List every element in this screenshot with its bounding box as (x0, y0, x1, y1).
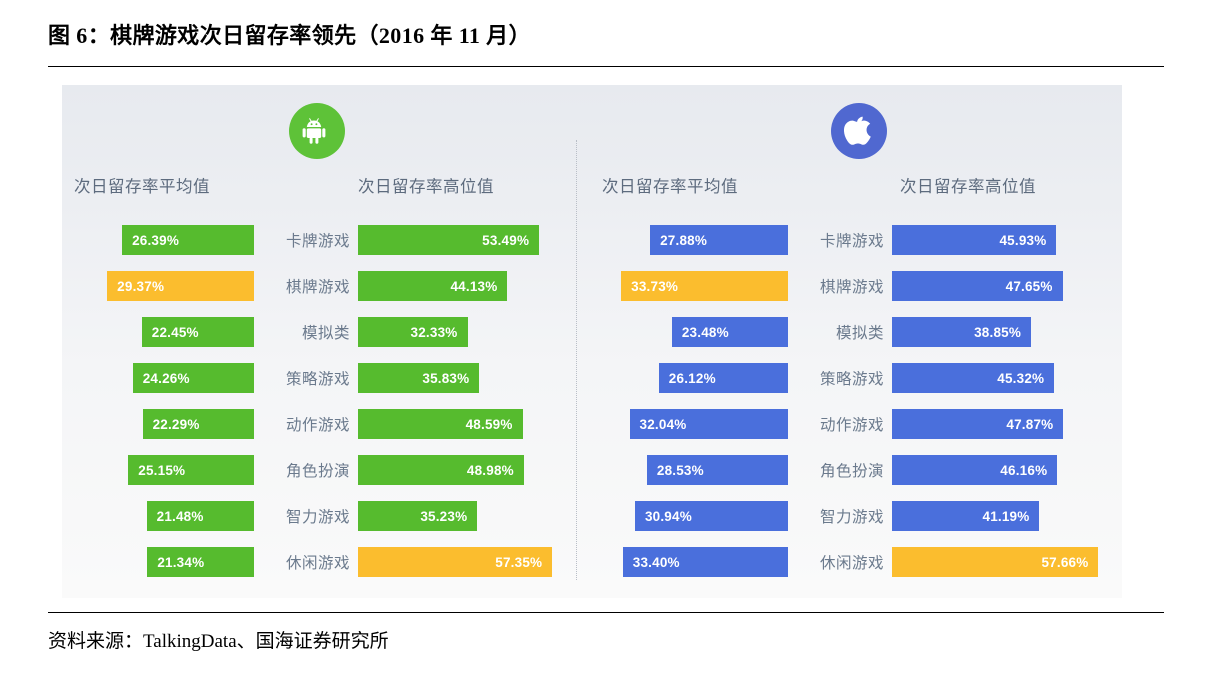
category-label: 卡牌游戏 (820, 229, 884, 251)
android-high-value: 35.83% (422, 371, 469, 386)
android-average-column-header: 次日留存率平均值 (74, 173, 210, 197)
ios-high-value: 57.66% (1041, 555, 1088, 570)
category-label: 棋牌游戏 (286, 275, 350, 297)
category-label: 休闲游戏 (286, 551, 350, 573)
chart-row: 26.39%卡牌游戏53.49%27.88%卡牌游戏45.93% (62, 217, 1122, 263)
category-label-zone: 棋牌游戏 (792, 271, 884, 301)
ios-average-bar[interactable]: 33.40% (623, 547, 788, 577)
ios-average-bar-zone: 26.12% (600, 363, 788, 393)
category-label-zone: 智力游戏 (792, 501, 884, 531)
android-high-value: 53.49% (482, 233, 529, 248)
ios-average-bar-zone: 23.48% (600, 317, 788, 347)
android-average-value: 29.37% (117, 279, 164, 294)
category-label-zone: 休闲游戏 (792, 547, 884, 577)
chart-row: 29.37%棋牌游戏44.13%33.73%棋牌游戏47.65% (62, 263, 1122, 309)
ios-high-value: 46.16% (1000, 463, 1047, 478)
android-row-half: 21.34%休闲游戏57.35% (62, 539, 576, 585)
android-average-value: 21.34% (157, 555, 204, 570)
category-label-zone: 模拟类 (792, 317, 884, 347)
source-divider-rule (48, 612, 1164, 613)
ios-average-bar[interactable]: 26.12% (659, 363, 788, 393)
chart-row: 21.34%休闲游戏57.35%33.40%休闲游戏57.66% (62, 539, 1122, 585)
ios-average-value: 27.88% (660, 233, 707, 248)
category-label-zone: 动作游戏 (258, 409, 350, 439)
ios-high-value: 45.32% (997, 371, 1044, 386)
android-average-bar-zone: 25.15% (74, 455, 254, 485)
chart-panel: 次日留存率平均值 次日留存率高位值 次日留存率平均值 次日留存率高位值 26.3… (62, 85, 1122, 598)
android-average-value: 22.45% (152, 325, 199, 340)
ios-row-half: 30.94%智力游戏41.19% (590, 493, 1122, 539)
chart-panel-inner: 次日留存率平均值 次日留存率高位值 次日留存率平均值 次日留存率高位值 26.3… (62, 85, 1122, 598)
android-average-bar[interactable]: 21.48% (147, 501, 254, 531)
android-high-bar[interactable]: 48.59% (358, 409, 523, 439)
android-average-bar[interactable]: 26.39% (122, 225, 254, 255)
ios-high-bar-zone: 47.87% (892, 409, 1114, 439)
android-row-half: 21.48%智力游戏35.23% (62, 493, 576, 539)
ios-high-bar-zone: 38.85% (892, 317, 1114, 347)
ios-high-value: 47.65% (1006, 279, 1053, 294)
category-label-zone: 卡牌游戏 (258, 225, 350, 255)
android-high-bar[interactable]: 48.98% (358, 455, 524, 485)
android-high-value: 44.13% (450, 279, 497, 294)
android-high-column-header: 次日留存率高位值 (358, 173, 494, 197)
android-average-value: 26.39% (132, 233, 179, 248)
chart-row: 21.48%智力游戏35.23%30.94%智力游戏41.19% (62, 493, 1122, 539)
ios-average-bar-zone: 28.53% (600, 455, 788, 485)
ios-high-bar[interactable]: 47.87% (892, 409, 1063, 439)
category-label-zone: 策略游戏 (792, 363, 884, 393)
category-label-zone: 动作游戏 (792, 409, 884, 439)
category-label: 智力游戏 (286, 505, 350, 527)
android-average-bar[interactable]: 25.15% (128, 455, 254, 485)
android-high-bar-zone: 32.33% (358, 317, 568, 347)
android-average-bar[interactable]: 22.29% (143, 409, 254, 439)
category-label: 模拟类 (836, 321, 884, 343)
android-high-bar-zone: 35.23% (358, 501, 568, 531)
category-label: 动作游戏 (820, 413, 884, 435)
category-label-zone: 角色扮演 (258, 455, 350, 485)
android-average-value: 21.48% (157, 509, 204, 524)
ios-high-column-header: 次日留存率高位值 (900, 173, 1036, 197)
android-row-half: 22.45%模拟类32.33% (62, 309, 576, 355)
ios-average-bar[interactable]: 23.48% (672, 317, 788, 347)
ios-average-value: 23.48% (682, 325, 729, 340)
chart-row: 24.26%策略游戏35.83%26.12%策略游戏45.32% (62, 355, 1122, 401)
android-high-bar-zone: 57.35% (358, 547, 568, 577)
android-row-half: 29.37%棋牌游戏44.13% (62, 263, 576, 309)
ios-high-bar[interactable]: 38.85% (892, 317, 1031, 347)
android-average-bar-zone: 21.48% (74, 501, 254, 531)
chart-rows: 26.39%卡牌游戏53.49%27.88%卡牌游戏45.93%29.37%棋牌… (62, 217, 1122, 585)
ios-high-bar-zone: 45.32% (892, 363, 1114, 393)
category-label-zone: 休闲游戏 (258, 547, 350, 577)
ios-average-value: 30.94% (645, 509, 692, 524)
android-average-bar[interactable]: 22.45% (142, 317, 254, 347)
ios-high-bar-zone: 57.66% (892, 547, 1114, 577)
chart-row: 22.45%模拟类32.33%23.48%模拟类38.85% (62, 309, 1122, 355)
android-high-bar-zone: 48.59% (358, 409, 568, 439)
android-high-bar-zone: 35.83% (358, 363, 568, 393)
page-title: 图 6：棋牌游戏次日留存率领先（2016 年 11 月） (48, 18, 1164, 50)
android-average-bar[interactable]: 24.26% (133, 363, 254, 393)
category-label-zone: 棋牌游戏 (258, 271, 350, 301)
android-row-half: 24.26%策略游戏35.83% (62, 355, 576, 401)
category-label-zone: 模拟类 (258, 317, 350, 347)
ios-high-bar[interactable]: 46.16% (892, 455, 1057, 485)
ios-high-value: 47.87% (1006, 417, 1053, 432)
ios-high-bar-zone: 47.65% (892, 271, 1114, 301)
ios-row-half: 28.53%角色扮演46.16% (590, 447, 1122, 493)
ios-average-bar-zone: 30.94% (600, 501, 788, 531)
category-label: 策略游戏 (820, 367, 884, 389)
chart-row: 25.15%角色扮演48.98%28.53%角色扮演46.16% (62, 447, 1122, 493)
apple-icon (831, 103, 887, 159)
category-label-zone: 智力游戏 (258, 501, 350, 531)
android-high-value: 57.35% (495, 555, 542, 570)
ios-high-bar[interactable]: 47.65% (892, 271, 1063, 301)
android-average-value: 22.29% (153, 417, 200, 432)
ios-average-value: 32.04% (640, 417, 687, 432)
ios-average-bar[interactable]: 33.73% (621, 271, 788, 301)
android-high-value: 48.98% (467, 463, 514, 478)
android-average-value: 24.26% (143, 371, 190, 386)
android-average-bar-zone: 24.26% (74, 363, 254, 393)
category-label: 角色扮演 (820, 459, 884, 481)
ios-average-bar-zone: 33.73% (600, 271, 788, 301)
figure-title-block: 图 6：棋牌游戏次日留存率领先（2016 年 11 月） (48, 18, 1164, 50)
android-high-value: 48.59% (466, 417, 513, 432)
ios-average-value: 28.53% (657, 463, 704, 478)
android-high-value: 35.23% (420, 509, 467, 524)
category-label: 策略游戏 (286, 367, 350, 389)
ios-high-bar-zone: 41.19% (892, 501, 1114, 531)
ios-average-bar[interactable]: 28.53% (647, 455, 788, 485)
android-average-bar-zone: 21.34% (74, 547, 254, 577)
ios-average-bar[interactable]: 32.04% (630, 409, 789, 439)
android-average-bar[interactable]: 29.37% (107, 271, 254, 301)
android-average-bar-zone: 22.29% (74, 409, 254, 439)
ios-row-half: 33.73%棋牌游戏47.65% (590, 263, 1122, 309)
ios-average-value: 33.40% (633, 555, 680, 570)
ios-average-bar-zone: 33.40% (600, 547, 788, 577)
ios-average-bar-zone: 27.88% (600, 225, 788, 255)
category-label-zone: 策略游戏 (258, 363, 350, 393)
ios-average-column-header: 次日留存率平均值 (602, 173, 738, 197)
android-average-value: 25.15% (138, 463, 185, 478)
android-average-bar-zone: 29.37% (74, 271, 254, 301)
ios-average-bar-zone: 32.04% (600, 409, 788, 439)
android-average-bar[interactable]: 21.34% (147, 547, 254, 577)
category-label: 休闲游戏 (820, 551, 884, 573)
ios-high-bar-zone: 45.93% (892, 225, 1114, 255)
category-label-zone: 角色扮演 (792, 455, 884, 485)
ios-row-half: 33.40%休闲游戏57.66% (590, 539, 1122, 585)
ios-high-bar-zone: 46.16% (892, 455, 1114, 485)
ios-average-value: 33.73% (631, 279, 678, 294)
android-row-half: 26.39%卡牌游戏53.49% (62, 217, 576, 263)
android-high-value: 32.33% (411, 325, 458, 340)
ios-high-value: 45.93% (999, 233, 1046, 248)
android-high-bar[interactable]: 35.23% (358, 501, 477, 531)
android-high-bar[interactable]: 32.33% (358, 317, 468, 347)
ios-average-value: 26.12% (669, 371, 716, 386)
android-average-bar-zone: 26.39% (74, 225, 254, 255)
ios-high-bar[interactable]: 45.32% (892, 363, 1054, 393)
ios-row-half: 26.12%策略游戏45.32% (590, 355, 1122, 401)
category-label: 智力游戏 (820, 505, 884, 527)
ios-high-bar[interactable]: 57.66% (892, 547, 1098, 577)
category-label: 棋牌游戏 (820, 275, 884, 297)
android-high-bar[interactable]: 53.49% (358, 225, 539, 255)
ios-high-value: 38.85% (974, 325, 1021, 340)
ios-row-half: 32.04%动作游戏47.87% (590, 401, 1122, 447)
android-row-half: 22.29%动作游戏48.59% (62, 401, 576, 447)
ios-high-value: 41.19% (982, 509, 1029, 524)
android-high-bar-zone: 44.13% (358, 271, 568, 301)
ios-average-bar[interactable]: 27.88% (650, 225, 788, 255)
android-high-bar-zone: 48.98% (358, 455, 568, 485)
android-average-bar-zone: 22.45% (74, 317, 254, 347)
ios-row-half: 27.88%卡牌游戏45.93% (590, 217, 1122, 263)
category-label: 角色扮演 (286, 459, 350, 481)
source-note: 资料来源：TalkingData、国海证券研究所 (48, 626, 389, 653)
android-high-bar[interactable]: 35.83% (358, 363, 479, 393)
android-icon (289, 103, 345, 159)
category-label: 卡牌游戏 (286, 229, 350, 251)
ios-high-bar[interactable]: 45.93% (892, 225, 1056, 255)
android-high-bar[interactable]: 57.35% (358, 547, 552, 577)
ios-row-half: 23.48%模拟类38.85% (590, 309, 1122, 355)
ios-high-bar[interactable]: 41.19% (892, 501, 1039, 531)
chart-row: 22.29%动作游戏48.59%32.04%动作游戏47.87% (62, 401, 1122, 447)
android-high-bar-zone: 53.49% (358, 225, 568, 255)
title-divider-rule (48, 66, 1164, 67)
ios-average-bar[interactable]: 30.94% (635, 501, 788, 531)
category-label-zone: 卡牌游戏 (792, 225, 884, 255)
category-label: 动作游戏 (286, 413, 350, 435)
android-high-bar[interactable]: 44.13% (358, 271, 507, 301)
android-row-half: 25.15%角色扮演48.98% (62, 447, 576, 493)
category-label: 模拟类 (302, 321, 350, 343)
